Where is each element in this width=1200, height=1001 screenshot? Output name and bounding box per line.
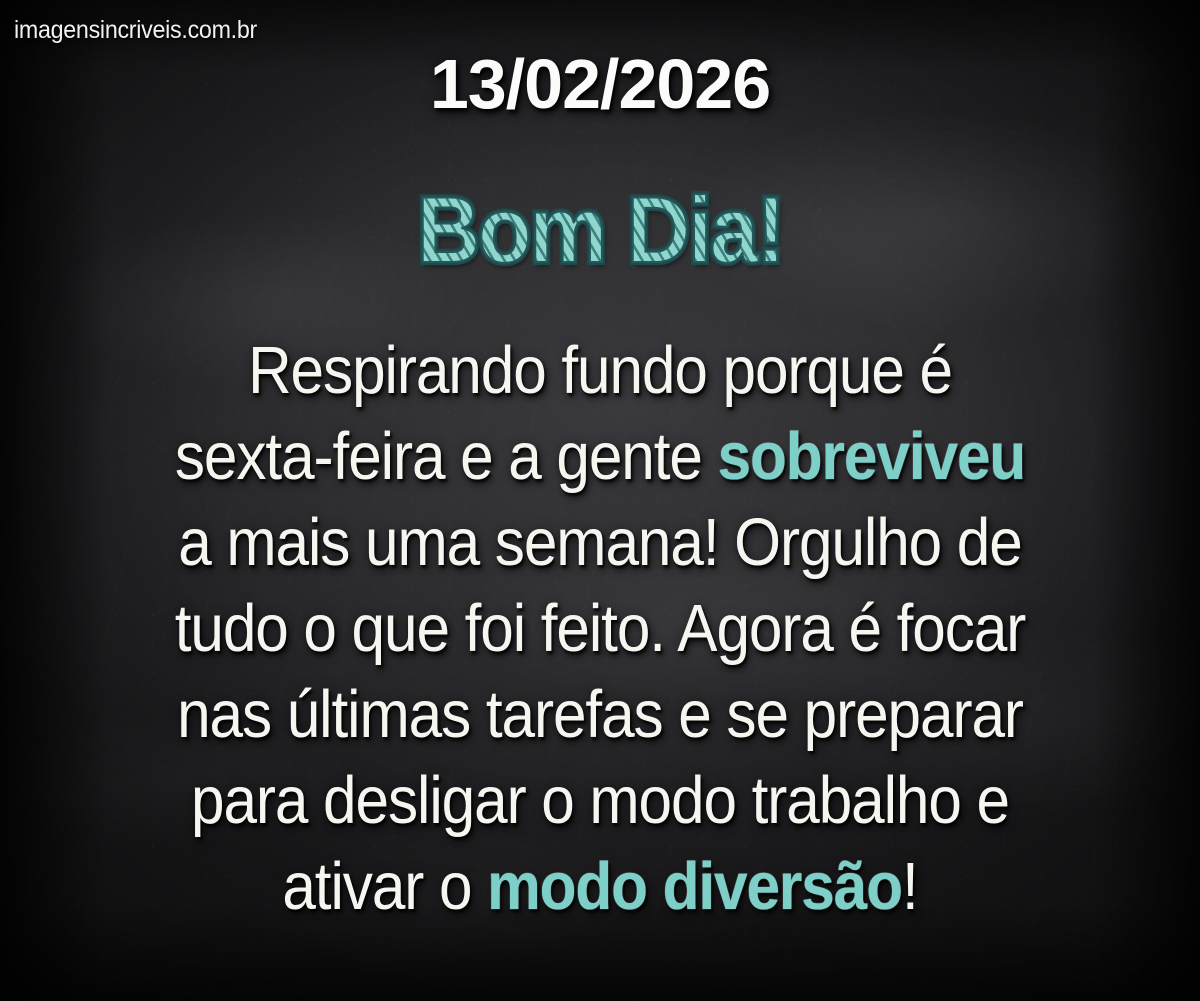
greeting-container: Bom Dia! Bom Dia! Bom Dia! Bom Dia! [0,170,1200,290]
message-line: tudo o que foi feito. Agora é focar [114,586,1086,672]
poster-content: imagensincriveis.com.br 13/02/2026 Bom D… [0,0,1200,1001]
message-line: Respirando fundo porque é [114,328,1086,414]
message-text: Respirando fundo porque é [248,333,952,408]
message-text: ! [902,849,918,924]
greeting-fill-layer: Bom Dia! [417,177,783,282]
message-line: a mais uma semana! Orgulho de [114,500,1086,586]
highlighted-phrase: sobreviveu [718,419,1026,494]
message-text: nas últimas tarefas e se preparar [177,677,1023,752]
message-line: ativar o modo diversão! [114,844,1086,930]
site-watermark: imagensincriveis.com.br [14,16,257,45]
message-line: nas últimas tarefas e se preparar [114,672,1086,758]
date-heading: 13/02/2026 [0,44,1200,124]
message-text: tudo o que foi feito. Agora é focar [175,591,1026,666]
greeting-heading: Bom Dia! Bom Dia! Bom Dia! Bom Dia! [417,183,783,276]
message-paragraph: Respirando fundo porque ésexta-feira e a… [60,328,1140,930]
message-text: sexta-feira e a gente [175,419,718,494]
message-text: para desligar o modo trabalho e [191,763,1009,838]
highlighted-phrase: modo diversão [487,849,902,924]
chalkboard-poster: imagensincriveis.com.br 13/02/2026 Bom D… [0,0,1200,1001]
message-text: a mais uma semana! Orgulho de [178,505,1021,580]
message-line: sexta-feira e a gente sobreviveu [114,414,1086,500]
message-text: ativar o [282,849,487,924]
message-line: para desligar o modo trabalho e [114,758,1086,844]
